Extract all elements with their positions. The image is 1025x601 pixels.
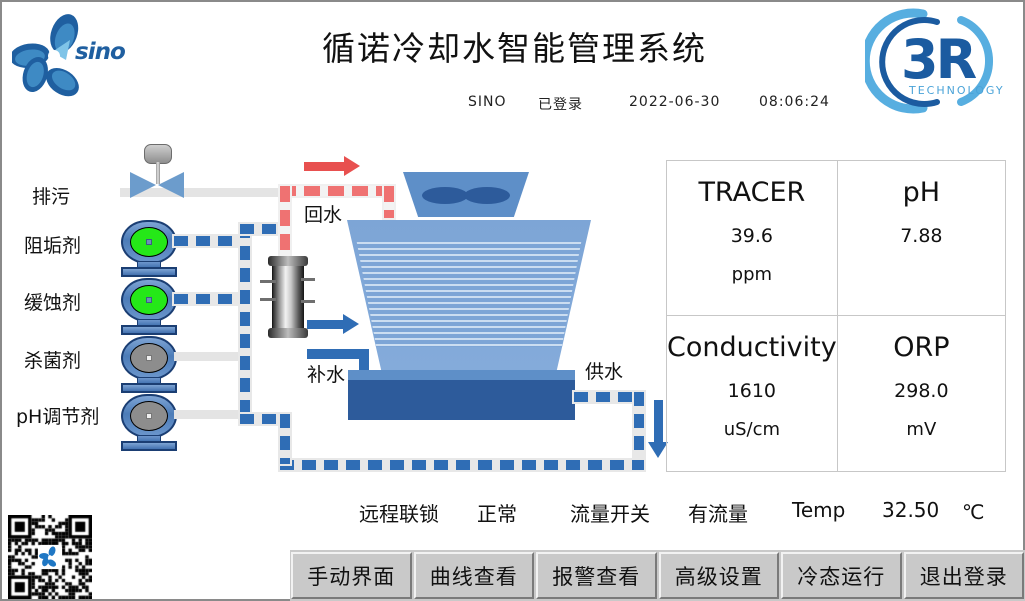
vessel-nozzle-left-lower-icon xyxy=(260,298,276,301)
3r-technology-logo: 3R TECHNOLOGY xyxy=(865,6,1015,116)
label-makeup-water: 补水 xyxy=(305,360,347,387)
cooling-tower-fill-fins xyxy=(347,242,591,347)
temp-value: 32.50 xyxy=(882,498,939,522)
arrow-head xyxy=(648,442,668,458)
flow-switch-label: 流量开关 xyxy=(570,498,650,527)
vessel-shell-icon xyxy=(272,262,304,332)
analyzer-vessel-icon[interactable] xyxy=(268,254,308,340)
pump-center-dot-icon xyxy=(146,239,152,245)
button-trend-view[interactable]: 曲线查看 xyxy=(414,552,535,599)
pump-center-dot-icon xyxy=(146,355,152,361)
arrow-shaft xyxy=(654,400,663,442)
qr-code[interactable] xyxy=(8,515,92,599)
makeup-flow-arrow xyxy=(307,320,359,329)
return-flow-arrow xyxy=(304,162,360,171)
pump-center-dot-icon xyxy=(146,297,152,303)
chem-label-biocide: 杀菌剂 xyxy=(24,346,81,373)
supply-flow-arrow xyxy=(654,400,663,458)
button-alarm-view[interactable]: 报警查看 xyxy=(536,552,657,599)
valve-handwheel-icon xyxy=(144,144,172,164)
reading-orp[interactable]: ORP 298.0 mV xyxy=(838,316,1005,471)
arrow-head xyxy=(344,156,360,176)
loop-left-riser xyxy=(280,414,290,464)
pump-base-icon xyxy=(121,325,177,335)
chem-label-blowdown: 排污 xyxy=(32,182,70,209)
vessel-nozzle-right-lower-icon xyxy=(301,300,315,303)
pump-corrosion-inhibitor[interactable] xyxy=(118,278,180,336)
reading-value: 7.88 xyxy=(838,225,1005,247)
supply-pipe-down xyxy=(634,392,644,470)
vessel-bottom-cap-icon xyxy=(268,328,308,338)
system-date: 2022-06-30 xyxy=(629,94,720,110)
reading-name: ORP xyxy=(838,332,1005,363)
3r-wordmark: 3R xyxy=(901,28,974,91)
pump-base-icon xyxy=(121,267,177,277)
cooling-tower-basin-top xyxy=(348,370,575,380)
reading-conductivity[interactable]: Conductivity 1610 uS/cm xyxy=(667,316,838,471)
blowdown-valve-icon[interactable] xyxy=(124,144,190,206)
reading-name: pH xyxy=(838,177,1005,208)
reading-value: 298.0 xyxy=(838,380,1005,402)
hmi-screen: sino 循诺冷却水智能管理系统 SINO 已登录 2022-06-30 08:… xyxy=(0,0,1025,601)
reading-name: TRACER xyxy=(667,177,837,208)
vessel-nozzle-left-upper-icon xyxy=(260,280,276,283)
chem-label-ph-adjust: pH调节剂 xyxy=(16,402,99,429)
remote-interlock-label: 远程联锁 xyxy=(359,498,439,527)
bottom-button-bar: 手动界面 曲线查看 报警查看 高级设置 冷态运行 退出登录 xyxy=(290,550,1025,601)
return-water-pipe-top xyxy=(280,186,394,196)
temp-label: Temp xyxy=(792,498,845,522)
3r-tagline: TECHNOLOGY xyxy=(909,84,1005,97)
remote-interlock-value: 正常 xyxy=(477,498,517,527)
dosing-pipe-biocide xyxy=(174,352,244,361)
button-logout[interactable]: 退出登录 xyxy=(904,552,1025,599)
flow-switch-value: 有流量 xyxy=(688,498,748,527)
fan-blade-right-icon xyxy=(464,187,510,204)
qr-center-logo-icon xyxy=(38,545,62,569)
return-water-pipe-to-tower xyxy=(384,186,394,218)
valve-left-body-icon xyxy=(130,172,156,198)
pump-base-icon xyxy=(121,441,177,451)
reading-tracer[interactable]: TRACER 39.6 ppm xyxy=(667,161,838,316)
pump-base-icon xyxy=(121,383,177,393)
valve-right-body-icon xyxy=(158,172,184,198)
dosing-pipe-ph xyxy=(174,410,244,419)
arrow-head xyxy=(343,314,359,334)
chem-label-inhibitor: 缓蚀剂 xyxy=(24,288,81,315)
logged-user: SINO xyxy=(468,94,507,110)
arrow-shaft xyxy=(307,320,345,329)
button-advanced-setup[interactable]: 高级设置 xyxy=(659,552,780,599)
pump-antiscalant[interactable] xyxy=(118,220,180,278)
chem-label-antiscalant: 阻垢剂 xyxy=(24,231,81,258)
fan-blade-left-icon xyxy=(422,187,468,204)
reading-ph[interactable]: pH 7.88 xyxy=(838,161,1005,316)
pump-ph-adjust[interactable] xyxy=(118,394,180,452)
reading-unit: mV xyxy=(838,419,1005,440)
vessel-nozzle-right-upper-icon xyxy=(301,278,315,281)
pump-center-dot-icon xyxy=(146,413,152,419)
button-cold-start[interactable]: 冷态运行 xyxy=(781,552,902,599)
label-return-water: 回水 xyxy=(304,200,342,227)
pump-biocide[interactable] xyxy=(118,336,180,394)
system-time: 08:06:24 xyxy=(759,94,830,110)
loop-return-bottom xyxy=(280,460,644,470)
readings-panel: TRACER 39.6 ppm pH 7.88 Conductivity 161… xyxy=(666,160,1006,472)
reading-unit: uS/cm xyxy=(667,419,837,440)
vessel-top-cap-icon xyxy=(268,256,308,266)
reading-value: 39.6 xyxy=(667,225,837,247)
reading-name: Conductivity xyxy=(667,332,837,363)
reading-unit: ppm xyxy=(667,264,837,285)
login-state: 已登录 xyxy=(538,94,583,114)
reading-value: 1610 xyxy=(667,380,837,402)
dosing-header-riser xyxy=(240,224,250,424)
return-water-pipe-down xyxy=(280,186,290,258)
temp-unit: ℃ xyxy=(962,500,984,524)
dosing-pipe-inhibitor xyxy=(174,294,240,304)
status-row: 远程联锁 正常 流量开关 有流量 Temp 32.50 ℃ xyxy=(2,498,1025,528)
label-supply-water: 供水 xyxy=(585,357,623,384)
button-manual-screen[interactable]: 手动界面 xyxy=(291,552,412,599)
arrow-shaft xyxy=(304,162,346,171)
dosing-pipe-antiscalant xyxy=(174,236,240,246)
